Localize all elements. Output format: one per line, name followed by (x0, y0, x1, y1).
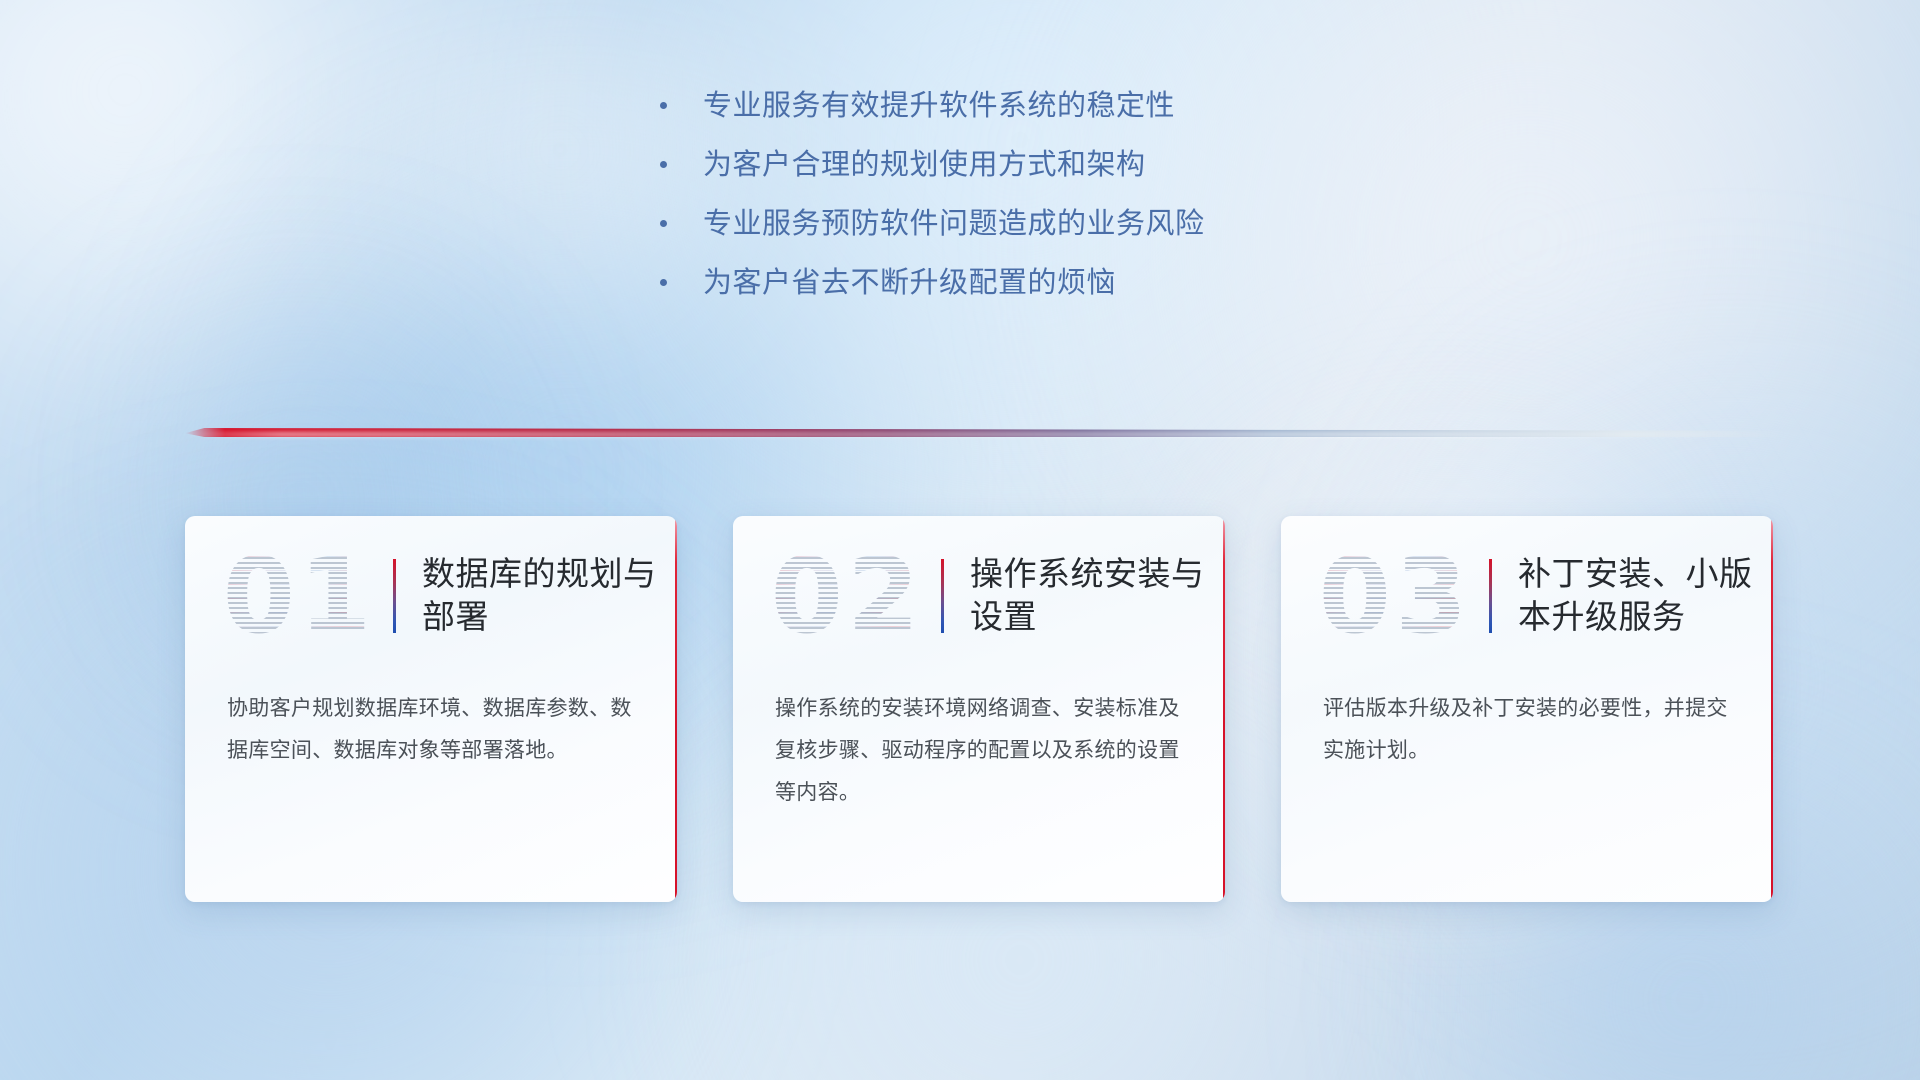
card-title: 数据库的规划与部署 (422, 553, 672, 639)
card-header: 02 02 操作系统安装与设置 (733, 516, 1225, 676)
card-title: 补丁安装、小版本升级服务 (1518, 553, 1768, 639)
bullet-text: 为客户合理的规划使用方式和架构 (703, 147, 1146, 184)
card-body-text: 评估版本升级及补丁安装的必要性，并提交实施计划。 (1281, 688, 1773, 772)
card-title: 操作系统安装与设置 (970, 553, 1220, 639)
service-cards: 01 01 数据库的规划与部署 协助客户规划数据库环境、数据库参数、数据库空间、… (185, 516, 1773, 902)
bullet-dot-icon (660, 220, 667, 227)
card-number-watermark: 01 01 (219, 537, 379, 655)
bullet-text: 为客户省去不断升级配置的烦恼 (703, 265, 1116, 302)
list-item: 专业服务有效提升软件系统的稳定性 (660, 88, 1480, 125)
service-card-02[interactable]: 02 02 操作系统安装与设置 操作系统的安装环境网络调查、安装标准及复核步骤、… (733, 516, 1225, 902)
card-accent-bar (393, 559, 396, 633)
card-body-text: 协助客户规划数据库环境、数据库参数、数据库空间、数据库对象等部署落地。 (185, 688, 677, 772)
card-header: 03 03 补丁安装、小版本升级服务 (1281, 516, 1773, 676)
divider-glow (185, 432, 1785, 437)
card-accent-bar (1489, 559, 1492, 633)
section-divider (185, 428, 1785, 437)
list-item: 专业服务预防软件问题造成的业务风险 (660, 206, 1480, 243)
service-card-03[interactable]: 03 03 补丁安装、小版本升级服务 评估版本升级及补丁安装的必要性，并提交实施… (1281, 516, 1773, 902)
card-accent-bar (941, 559, 944, 633)
benefits-bullet-list: 专业服务有效提升软件系统的稳定性 为客户合理的规划使用方式和架构 专业服务预防软… (660, 88, 1480, 324)
bullet-text: 专业服务预防软件问题造成的业务风险 (703, 206, 1205, 243)
bullet-dot-icon (660, 279, 667, 286)
card-number-watermark: 03 03 (1315, 537, 1475, 655)
service-card-01[interactable]: 01 01 数据库的规划与部署 协助客户规划数据库环境、数据库参数、数据库空间、… (185, 516, 677, 902)
card-body-text: 操作系统的安装环境网络调查、安装标准及复核步骤、驱动程序的配置以及系统的设置等内… (733, 688, 1225, 814)
card-header: 01 01 数据库的规划与部署 (185, 516, 677, 676)
list-item: 为客户省去不断升级配置的烦恼 (660, 265, 1480, 302)
card-number-tint: 03 (1315, 537, 1475, 655)
bullet-dot-icon (660, 161, 667, 168)
bullet-dot-icon (660, 102, 667, 109)
bullet-text: 专业服务有效提升软件系统的稳定性 (703, 88, 1175, 125)
card-number-tint: 02 (767, 537, 927, 655)
list-item: 为客户合理的规划使用方式和架构 (660, 147, 1480, 184)
card-number-watermark: 02 02 (767, 537, 927, 655)
card-number-tint: 01 (219, 537, 379, 655)
